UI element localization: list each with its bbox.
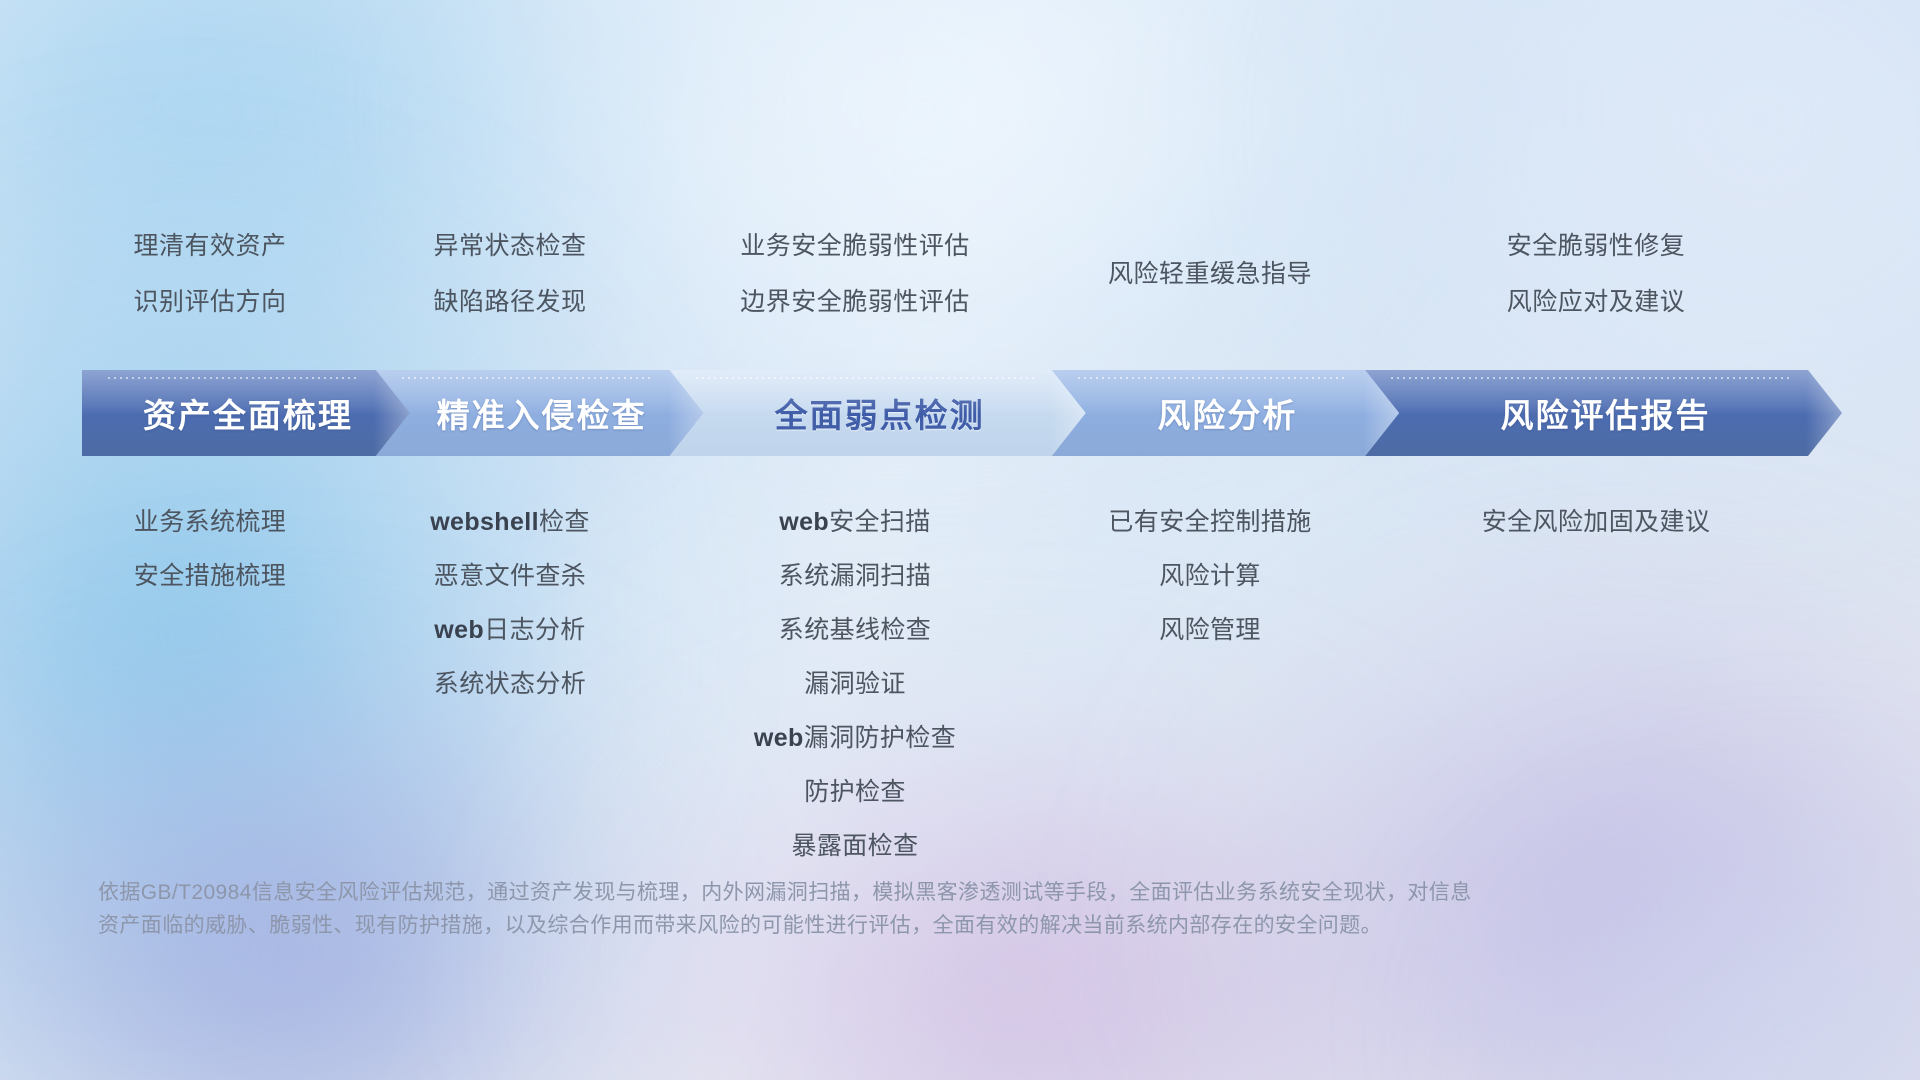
- bottom-caption-group-weakness-detection: web安全扫描系统漏洞扫描系统基线检查漏洞验证web漏洞防护检查防护检查暴露面检…: [660, 468, 1050, 862]
- top-caption-group-intrusion-check: 异常状态检查缺陷路径发现: [360, 196, 660, 348]
- bottom-caption: 暴露面检查: [791, 826, 918, 862]
- bottom-captions-row: 业务系统梳理安全措施梳理webshell检查恶意文件查杀web日志分析系统状态分…: [60, 468, 1860, 862]
- bottom-caption-text: 业务系统梳理: [134, 508, 286, 536]
- bottom-caption: 风险计算: [1159, 556, 1261, 592]
- bottom-caption-text: 系统基线检查: [779, 616, 931, 644]
- bottom-caption: 漏洞验证: [804, 664, 906, 700]
- bottom-caption-group-risk-analysis: 已有安全控制措施风险计算风险管理: [1050, 468, 1370, 646]
- footer-description: 依据GB/T20984信息安全风险评估规范，通过资产发现与梳理，内外网漏洞扫描，…: [98, 876, 1598, 942]
- bottom-caption-text: 系统漏洞扫描: [779, 562, 931, 590]
- top-caption: 理清有效资产: [133, 226, 286, 262]
- process-step-intrusion-check[interactable]: 精准入侵检查: [376, 370, 704, 456]
- bottom-caption: 安全风险加固及建议: [1482, 502, 1711, 538]
- process-step-label: 全面弱点检测: [771, 389, 985, 437]
- bottom-caption: 业务系统梳理: [134, 502, 286, 538]
- bottom-caption-keyword: web: [754, 724, 804, 752]
- bottom-caption: web安全扫描: [779, 502, 930, 538]
- bottom-caption: 安全措施梳理: [134, 556, 286, 592]
- chevron-dotted-highlight: [402, 377, 652, 379]
- process-step-risk-report[interactable]: 风险评估报告: [1365, 370, 1842, 456]
- top-caption-group-risk-analysis: 风险轻重缓急指导: [1050, 196, 1370, 348]
- process-step-label: 精准入侵检查: [433, 389, 647, 437]
- bottom-caption: 风险管理: [1159, 610, 1261, 646]
- bottom-caption-text: 检查: [539, 508, 590, 536]
- process-chevron-bar: 资产全面梳理精准入侵检查全面弱点检测风险分析风险评估报告: [82, 370, 1842, 456]
- top-caption: 风险应对及建议: [1507, 282, 1686, 318]
- bottom-caption-group-risk-report: 安全风险加固及建议: [1370, 468, 1822, 538]
- bottom-caption-text: 恶意文件查杀: [434, 562, 586, 590]
- bottom-caption-group-intrusion-check: webshell检查恶意文件查杀web日志分析系统状态分析: [360, 468, 660, 700]
- bottom-caption: 恶意文件查杀: [434, 556, 586, 592]
- process-step-asset-inventory[interactable]: 资产全面梳理: [82, 370, 410, 456]
- top-caption-group-risk-report: 安全脆弱性修复风险应对及建议: [1370, 196, 1822, 348]
- top-caption: 风险轻重缓急指导: [1108, 254, 1312, 290]
- bottom-caption: web漏洞防护检查: [754, 718, 956, 754]
- bottom-caption-text: 防护检查: [804, 778, 906, 806]
- bottom-caption: 系统漏洞扫描: [779, 556, 931, 592]
- process-step-risk-analysis[interactable]: 风险分析: [1052, 370, 1399, 456]
- process-diagram: 理清有效资产识别评估方向异常状态检查缺陷路径发现业务安全脆弱性评估边界安全脆弱性…: [0, 0, 1920, 1080]
- top-caption: 缺陷路径发现: [433, 282, 586, 318]
- top-caption-group-weakness-detection: 业务安全脆弱性评估边界安全脆弱性评估: [660, 196, 1050, 348]
- bottom-caption-group-asset-inventory: 业务系统梳理安全措施梳理: [60, 468, 360, 592]
- bottom-caption-text: 日志分析: [484, 616, 586, 644]
- top-caption-group-asset-inventory: 理清有效资产识别评估方向: [60, 196, 360, 348]
- bottom-caption-text: 漏洞防护检查: [804, 724, 956, 752]
- process-step-label: 风险评估报告: [1497, 389, 1711, 437]
- bottom-caption-text: 风险计算: [1159, 562, 1261, 590]
- process-step-label: 资产全面梳理: [139, 389, 353, 437]
- bottom-caption: web日志分析: [434, 610, 585, 646]
- chevron-dotted-highlight: [1391, 377, 1790, 379]
- bottom-caption-text: 安全风险加固及建议: [1482, 508, 1711, 536]
- bottom-caption-text: 安全扫描: [829, 508, 931, 536]
- bottom-caption-keyword: web: [779, 508, 829, 536]
- top-captions-row: 理清有效资产识别评估方向异常状态检查缺陷路径发现业务安全脆弱性评估边界安全脆弱性…: [60, 196, 1860, 348]
- bottom-caption: webshell检查: [430, 502, 590, 538]
- bottom-caption: 防护检查: [804, 772, 906, 808]
- top-caption: 异常状态检查: [433, 226, 586, 262]
- bottom-caption-text: 已有安全控制措施: [1108, 508, 1311, 536]
- top-caption: 业务安全脆弱性评估: [740, 226, 970, 262]
- bottom-caption: 已有安全控制措施: [1108, 502, 1311, 538]
- bottom-caption-text: 系统状态分析: [434, 670, 586, 698]
- top-caption: 边界安全脆弱性评估: [740, 282, 970, 318]
- bottom-caption: 系统状态分析: [434, 664, 586, 700]
- bottom-caption-keyword: web: [434, 616, 484, 644]
- chevron-dotted-highlight: [696, 377, 1034, 379]
- bottom-caption-text: 风险管理: [1159, 616, 1261, 644]
- top-caption: 识别评估方向: [133, 282, 286, 318]
- bottom-caption-text: 安全措施梳理: [134, 562, 286, 590]
- top-caption: 安全脆弱性修复: [1507, 226, 1686, 262]
- bottom-caption-keyword: webshell: [430, 508, 539, 536]
- bottom-caption-text: 暴露面检查: [791, 832, 918, 860]
- chevron-dotted-highlight: [108, 377, 358, 379]
- process-step-label: 风险分析: [1153, 389, 1297, 437]
- chevron-dotted-highlight: [1078, 377, 1347, 379]
- footer-paragraph: 依据GB/T20984信息安全风险评估规范，通过资产发现与梳理，内外网漏洞扫描，…: [98, 876, 1598, 942]
- bottom-caption: 系统基线检查: [779, 610, 931, 646]
- bottom-caption-text: 漏洞验证: [804, 670, 906, 698]
- process-step-weakness-detection[interactable]: 全面弱点检测: [670, 370, 1086, 456]
